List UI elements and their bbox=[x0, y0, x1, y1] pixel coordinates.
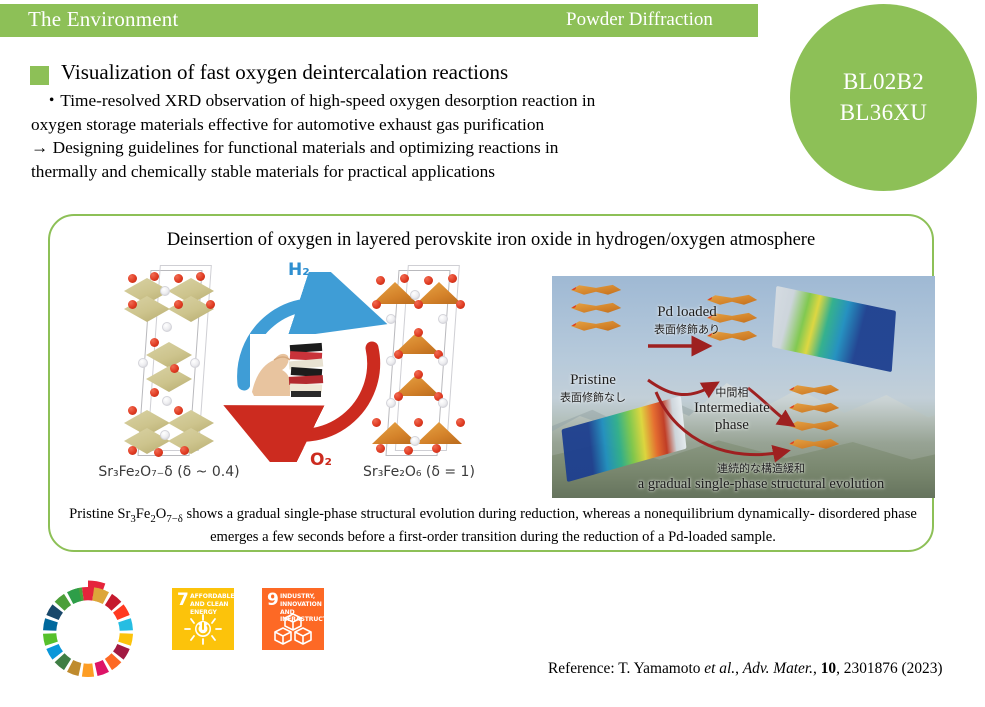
oxygen-atom bbox=[128, 446, 137, 455]
label-intermediate-en-2: phase bbox=[694, 417, 770, 434]
oxygen-atom bbox=[174, 406, 183, 415]
label-intermediate-jp: 中間相 bbox=[694, 384, 770, 400]
oxygen-atom bbox=[414, 300, 423, 309]
label-pristine-jp: 表面修飾なし bbox=[560, 389, 626, 405]
oxygen-atom bbox=[150, 338, 159, 347]
label-gradual-evolution-jp: 連続的な構造緩和 bbox=[616, 460, 906, 476]
strontium-atom bbox=[138, 358, 148, 368]
formula-right: Sr₃Fe₂O₆ (δ = 1) bbox=[314, 464, 524, 480]
oxygen-atom bbox=[448, 274, 457, 283]
oxygen-atom bbox=[414, 370, 423, 379]
crystal-structure-left bbox=[118, 270, 222, 456]
oxygen-atom bbox=[196, 272, 205, 281]
intro-body-line-1: ・Time-resolved XRD observation of high-s… bbox=[31, 89, 760, 113]
oxygen-atom bbox=[128, 406, 137, 415]
label-intermediate-en-1: Intermediate bbox=[694, 400, 770, 417]
oxygen-atom bbox=[170, 364, 179, 373]
oxygen-atom bbox=[174, 274, 183, 283]
oxygen-atom bbox=[180, 446, 189, 455]
oxygen-atom bbox=[414, 328, 423, 337]
header-subtitle: Powder Diffraction bbox=[566, 9, 713, 31]
oxygen-atom bbox=[432, 444, 441, 453]
mechanism-photo-composite: Pd loaded 表面修飾あり Pristine 表面修飾なし 中間相 Int… bbox=[552, 276, 935, 498]
oxygen-atom bbox=[128, 274, 137, 283]
sdg-goal-7-tile: 7 AFFORDABLE AND CLEAN ENERGY bbox=[172, 588, 234, 650]
reference-comma-2: , bbox=[813, 660, 821, 677]
sdg-goal-9-number: 9 bbox=[267, 592, 279, 609]
caption-seg-2: Fe bbox=[136, 506, 151, 522]
intro-heading-row: Visualization of fast oxygen deintercala… bbox=[30, 60, 760, 85]
label-gradual-evolution-en: a gradual single-phase structural evolut… bbox=[616, 476, 906, 493]
green-square-bullet-icon bbox=[30, 66, 49, 85]
strontium-atom bbox=[160, 430, 170, 440]
reference-rest: , 2301876 (2023) bbox=[836, 660, 942, 677]
main-content-panel: Deinsertion of oxygen in layered perovsk… bbox=[48, 214, 934, 552]
oxygen-atom bbox=[128, 300, 137, 309]
label-pristine: Pristine 表面修飾なし bbox=[560, 372, 626, 405]
oxygen-atom bbox=[456, 300, 465, 309]
oxygen-atom bbox=[154, 448, 163, 457]
intro-heading: Visualization of fast oxygen deintercala… bbox=[61, 60, 508, 85]
label-pd-loaded-jp: 表面修飾あり bbox=[654, 321, 720, 337]
reference-etal: et al. bbox=[704, 660, 735, 677]
intro-body-line-3: → Designing guidelines for functional ma… bbox=[31, 136, 760, 160]
panel-title: Deinsertion of oxygen in layered perovsk… bbox=[50, 230, 932, 251]
caption-seg-4: shows a gradual single-phase structural … bbox=[183, 506, 815, 522]
label-pd-loaded: Pd loaded 表面修飾あり bbox=[654, 304, 720, 337]
beamline-line-1: BL02B2 bbox=[843, 67, 924, 97]
strontium-atom bbox=[190, 358, 200, 368]
formula-left: Sr₃Fe₂O₇₋δ (δ ~ 0.4) bbox=[64, 464, 274, 480]
caption-seg-1: Pristine Sr bbox=[69, 506, 130, 522]
panel-caption: Pristine Sr3Fe2O7−δ shows a gradual sing… bbox=[68, 504, 918, 548]
strontium-atom bbox=[162, 322, 172, 332]
intro-block: Visualization of fast oxygen deintercala… bbox=[30, 60, 760, 183]
cubes-infrastructure-icon bbox=[262, 612, 324, 646]
sun-energy-icon bbox=[172, 612, 234, 646]
caption-sub-7d: 7−δ bbox=[166, 513, 183, 525]
caption-seg-3: O bbox=[156, 506, 167, 522]
intro-body-line-2: oxygen storage materials effective for a… bbox=[31, 113, 760, 137]
reference-prefix: Reference: T. Yamamoto bbox=[548, 660, 704, 677]
strontium-atom bbox=[438, 314, 448, 324]
strontium-atom bbox=[438, 356, 448, 366]
label-intermediate-phase: 中間相 Intermediate phase bbox=[694, 384, 770, 434]
strontium-atom bbox=[160, 286, 170, 296]
oxygen-atom bbox=[174, 300, 183, 309]
reference-line: Reference: T. Yamamoto et al., Adv. Mate… bbox=[548, 660, 943, 678]
oxygen-atom bbox=[150, 272, 159, 281]
oxygen-atom bbox=[206, 300, 215, 309]
beamline-badge: BL02B2 BL36XU bbox=[790, 4, 977, 191]
sdg-color-wheel-icon bbox=[36, 580, 140, 684]
beamline-line-2: BL36XU bbox=[840, 98, 927, 128]
intro-body-line-4: thermally and chemically stable material… bbox=[31, 160, 760, 184]
oxygen-atom bbox=[150, 388, 159, 397]
reference-volume: 10 bbox=[821, 660, 836, 677]
label-gradual-evolution: 連続的な構造緩和 a gradual single-phase structur… bbox=[616, 460, 906, 493]
page-title: The Environment bbox=[28, 7, 179, 32]
oxygen-atom bbox=[424, 276, 433, 285]
strontium-atom bbox=[162, 396, 172, 406]
intro-body: ・Time-resolved XRD observation of high-s… bbox=[31, 89, 760, 183]
h2-label: H₂ bbox=[288, 260, 310, 280]
oxygen-atom bbox=[414, 418, 423, 427]
label-pd-loaded-en: Pd loaded bbox=[654, 304, 720, 321]
strontium-atom bbox=[438, 398, 448, 408]
reference-comma-1: , bbox=[735, 660, 743, 677]
sdg-goal-9-tile: 9 INDUSTRY, INNOVATION AND INFRASTRUCTUR… bbox=[262, 588, 324, 650]
oxygen-atom bbox=[456, 418, 465, 427]
reference-journal: Adv. Mater. bbox=[743, 660, 813, 677]
sdg-goal-7-number: 7 bbox=[177, 592, 189, 609]
label-pristine-en: Pristine bbox=[560, 372, 626, 389]
reaction-scheme-figure: H₂ O₂ Sr₃Fe₂O₇₋δ (δ ~ 0.4) Sr₃Fe₂O₆ (δ =… bbox=[92, 264, 542, 504]
hand-jenga-blocks-photo bbox=[250, 334, 336, 400]
